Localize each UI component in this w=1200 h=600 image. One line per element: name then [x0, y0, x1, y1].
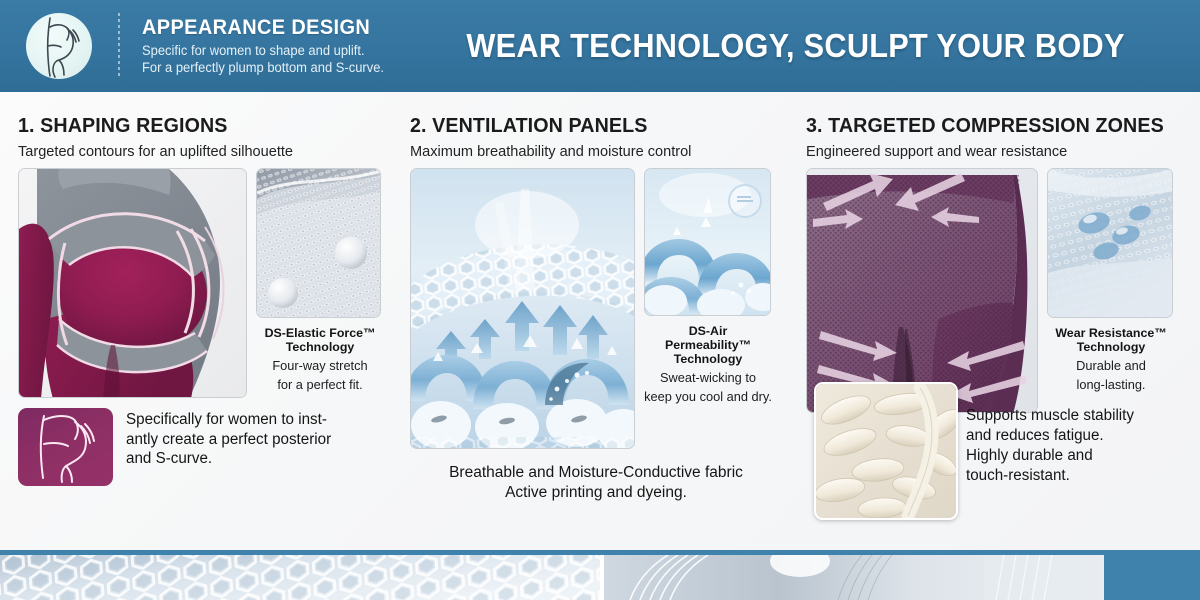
ventilation-main-image	[410, 168, 635, 449]
section-3-note-line-3: Highly durable and	[966, 446, 1199, 466]
wear-resistance-caption-body-1: Durable and	[1047, 358, 1175, 373]
brand-title: APPEARANCE DESIGN	[142, 16, 382, 40]
infographic-page: APPEARANCE DESIGN Specific for women to …	[0, 0, 1200, 600]
page-header: APPEARANCE DESIGN Specific for women to …	[0, 0, 1200, 92]
body-curve-outline-icon	[18, 408, 113, 486]
elastic-force-caption: DS-Elastic Force™ Technology Four-way st…	[256, 326, 384, 392]
air-permeability-caption-body-1: Sweat-wicking to	[644, 370, 772, 385]
wear-resistance-caption-body-2: long-lasting.	[1047, 377, 1175, 392]
section-1-note-line-2: antly create a perfect posterior	[126, 430, 331, 450]
section-3-media-row: Wear Resistance™ Technology Durable and …	[806, 168, 1194, 413]
section-2-note-line-2: Active printing and dyeing.	[410, 483, 782, 503]
footer-mesh-panel	[0, 555, 600, 600]
ventilation-thumb-block: DS-Air Permeability™ Technology Sweat-wi…	[644, 168, 772, 404]
section-3-note-line-1: Supports muscle stability	[966, 406, 1199, 426]
section-2-note-line-1: Breathable and Moisture-Conductive fabri…	[410, 463, 782, 483]
elastic-force-caption-title-1: DS-Elastic Force™	[256, 326, 384, 340]
section-1-heading: 1. SHAPING REGIONS	[18, 114, 375, 138]
elastic-force-caption-body-2: for a perfect fit.	[256, 377, 384, 392]
air-permeability-caption-title-2: Technology	[644, 352, 772, 366]
section-shaping-regions: 1. SHAPING REGIONS Targeted contours for…	[0, 92, 404, 550]
air-permeability-caption: DS-Air Permeability™ Technology Sweat-wi…	[644, 324, 772, 404]
wear-resistance-caption: Wear Resistance™ Technology Durable and …	[1047, 326, 1175, 392]
wear-resistance-thumb-image	[1047, 168, 1173, 318]
elastic-force-thumb-image	[256, 168, 381, 318]
body-silhouette-circle-icon	[26, 13, 92, 79]
section-2-subheading: Maximum breathability and moisture contr…	[410, 143, 779, 160]
section-2-heading: 2. VENTILATION PANELS	[410, 114, 775, 138]
wear-resistance-caption-title-2: Technology	[1047, 340, 1175, 354]
compression-thumb-block: Wear Resistance™ Technology Durable and …	[1047, 168, 1175, 392]
section-2-note: Breathable and Moisture-Conductive fabri…	[410, 463, 782, 503]
section-3-heading: 3. TARGETED COMPRESSION ZONES	[806, 114, 1178, 138]
section-1-media-row: DS-Elastic Force™ Technology Four-way st…	[18, 168, 390, 398]
section-3-note: Supports muscle stability and reduces fa…	[966, 406, 1199, 486]
section-1-note: Specifically for women to inst- antly cr…	[126, 408, 331, 469]
header-brand-block: APPEARANCE DESIGN Specific for women to …	[142, 16, 408, 76]
header-icon-wrap	[0, 13, 118, 79]
section-ventilation-panels: 2. VENTILATION PANELS Maximum breathabil…	[404, 92, 800, 550]
section-compression-zones: 3. TARGETED COMPRESSION ZONES Engineered…	[800, 92, 1200, 550]
dotted-divider	[118, 13, 120, 79]
shaping-thumb-block: DS-Elastic Force™ Technology Four-way st…	[256, 168, 384, 392]
section-3-note-line-2: and reduces fatigue.	[966, 426, 1199, 446]
page-title: WEAR TECHNOLOGY, SCULPT YOUR BODY	[436, 27, 1172, 65]
section-1-subheading: Targeted contours for an uplifted silhou…	[18, 143, 379, 160]
section-1-note-line-1: Specifically for women to inst-	[126, 410, 331, 430]
section-2-media-row: DS-Air Permeability™ Technology Sweat-wi…	[410, 168, 790, 449]
footer-fiber-panel	[604, 555, 1104, 600]
section-1-note-row: Specifically for women to inst- antly cr…	[18, 408, 390, 486]
content-area: 1. SHAPING REGIONS Targeted contours for…	[0, 92, 1200, 550]
air-permeability-caption-body-2: keep you cool and dry.	[644, 389, 772, 404]
section-3-subheading: Engineered support and wear resistance	[806, 143, 1182, 160]
shaping-main-image	[18, 168, 247, 398]
elastic-force-caption-title-2: Technology	[256, 340, 384, 354]
fiber-inset-image	[814, 382, 958, 520]
footer-strip	[0, 550, 1200, 600]
elastic-force-caption-body-1: Four-way stretch	[256, 358, 384, 373]
footer-accent-block	[1104, 555, 1200, 600]
wear-resistance-caption-title-1: Wear Resistance™	[1047, 326, 1175, 340]
brand-subtitle-line-1: Specific for women to shape and uplift.	[142, 43, 384, 60]
compression-main-image	[806, 168, 1038, 413]
brand-subtitle: Specific for women to shape and uplift. …	[142, 43, 384, 76]
brand-subtitle-line-2: For a perfectly plump bottom and S-curve…	[142, 60, 384, 77]
section-1-note-line-3: and S-curve.	[126, 449, 331, 469]
air-permeability-thumb-image	[644, 168, 771, 316]
section-3-note-line-4: touch-resistant.	[966, 466, 1199, 486]
air-permeability-caption-title-1: DS-Air Permeability™	[644, 324, 772, 352]
